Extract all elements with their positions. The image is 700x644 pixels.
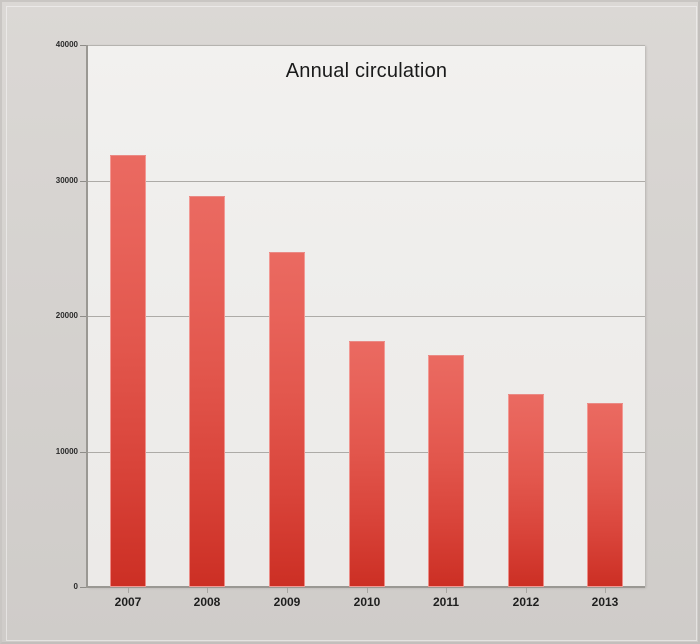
x-axis-label-2009: 2009 (248, 595, 326, 610)
y-axis-label: 10000 (6, 447, 78, 457)
x-axis-tick (446, 588, 447, 593)
x-axis-tick (605, 588, 606, 593)
y-axis-line (86, 45, 88, 588)
bar-2009[interactable] (269, 252, 305, 587)
y-axis-label: 30000 (6, 176, 78, 186)
x-axis-tick (526, 588, 527, 593)
y-axis-label: 40000 (6, 40, 78, 50)
x-axis-label-2007: 2007 (89, 595, 167, 610)
y-axis-tick (80, 587, 86, 588)
x-axis-tick (287, 588, 288, 593)
x-axis-tick (367, 588, 368, 593)
x-axis-tick (128, 588, 129, 593)
bar-2007[interactable] (110, 155, 146, 587)
y-axis-label: 20000 (6, 311, 78, 321)
y-axis-label: 0 (6, 582, 78, 592)
x-axis-label-2010: 2010 (328, 595, 406, 610)
x-axis-label-2011: 2011 (407, 595, 485, 610)
bar-2012[interactable] (508, 394, 544, 587)
x-axis-label-2013: 2013 (566, 595, 644, 610)
chart-title: Annual circulation (88, 60, 645, 83)
gridline (88, 181, 645, 182)
bar-2013[interactable] (587, 403, 623, 587)
x-axis-tick (207, 588, 208, 593)
bar-2011[interactable] (428, 355, 464, 587)
y-axis-tick (80, 452, 86, 453)
x-axis-label-2012: 2012 (487, 595, 565, 610)
bar-2008[interactable] (189, 196, 225, 587)
gridline (88, 316, 645, 317)
y-axis-tick (80, 316, 86, 317)
annual-circulation-bar-chart: 400003000020000100000 200720082009201020… (0, 0, 700, 644)
gridline (88, 45, 645, 46)
bar-2010[interactable] (349, 341, 385, 587)
y-axis-tick (80, 181, 86, 182)
y-axis-labels: 400003000020000100000 (0, 0, 78, 644)
x-axis-label-2008: 2008 (168, 595, 246, 610)
y-axis-tick (80, 45, 86, 46)
